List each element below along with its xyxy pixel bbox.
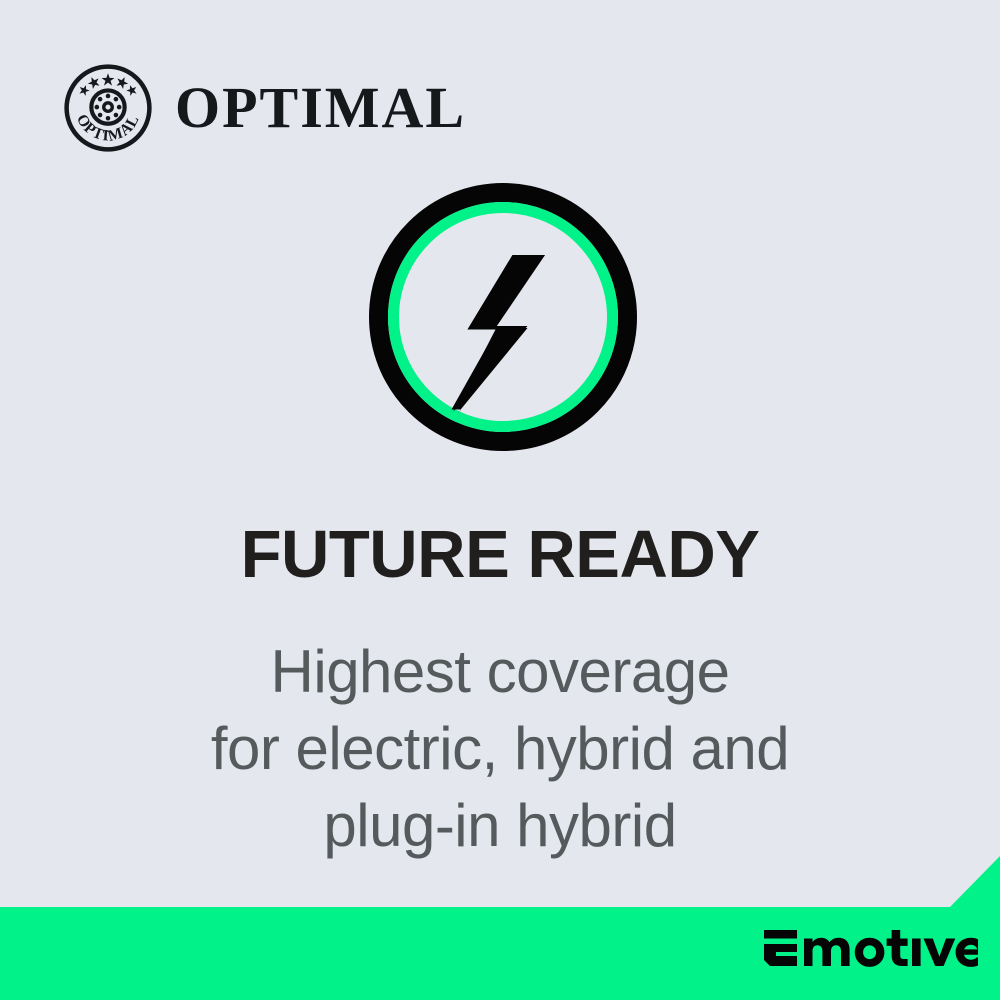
subhead-line-1: Highest coverage — [0, 634, 1000, 711]
brand-header: OPTIMAL — [63, 63, 466, 153]
subhead-line-3: plug-in hybrid — [0, 788, 1000, 865]
page-headline: FUTURE READY — [0, 520, 1000, 590]
subhead-line-2: for electric, hybrid and — [0, 711, 1000, 788]
hero-lightning-bolt-in-circle-icon — [369, 183, 637, 451]
optimal-wheel-emblem-icon: OPTIMAL — [63, 63, 153, 153]
emotive-logo — [762, 926, 978, 978]
page-subhead: Highest coverage for electric, hybrid an… — [0, 634, 1000, 864]
poster-canvas: OPTIMAL — [0, 0, 1000, 1000]
brand-wordmark: OPTIMAL — [175, 79, 466, 137]
